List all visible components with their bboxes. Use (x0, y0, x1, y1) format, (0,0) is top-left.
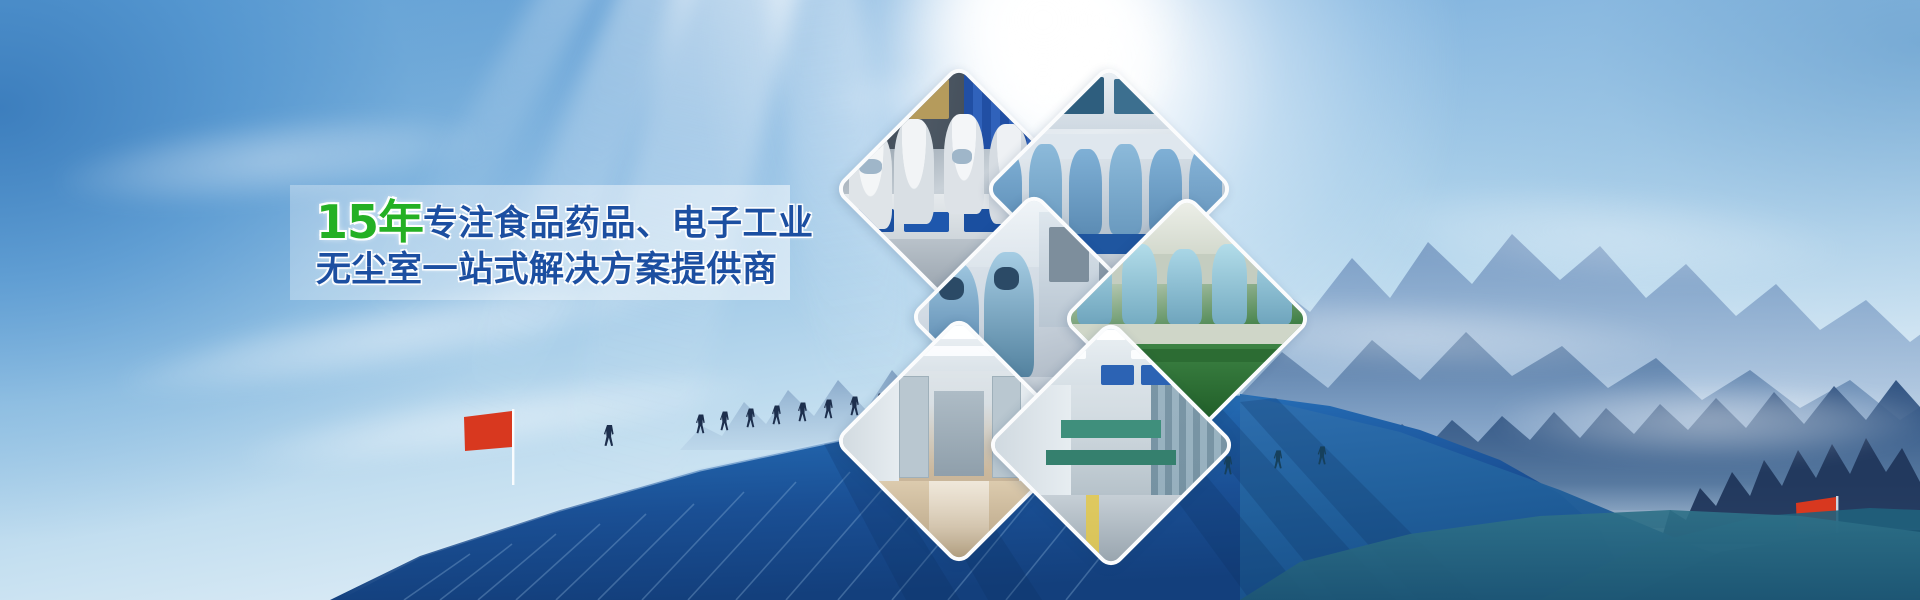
hero-banner: 15年专注食品药品、电子工业 无尘室一站式解决方案提供商 (0, 0, 1920, 600)
years-badge: 15年 (316, 195, 423, 249)
photo-diamond-cluster (840, 80, 1310, 480)
headline-block: 15年专注食品药品、电子工业 无尘室一站式解决方案提供商 (316, 199, 836, 293)
headline-line-1: 15年专注食品药品、电子工业 (316, 199, 836, 247)
headline-line-2: 无尘室一站式解决方案提供商 (316, 247, 836, 293)
headline-line-1-rest: 专注食品药品、电子工业 (423, 204, 814, 244)
